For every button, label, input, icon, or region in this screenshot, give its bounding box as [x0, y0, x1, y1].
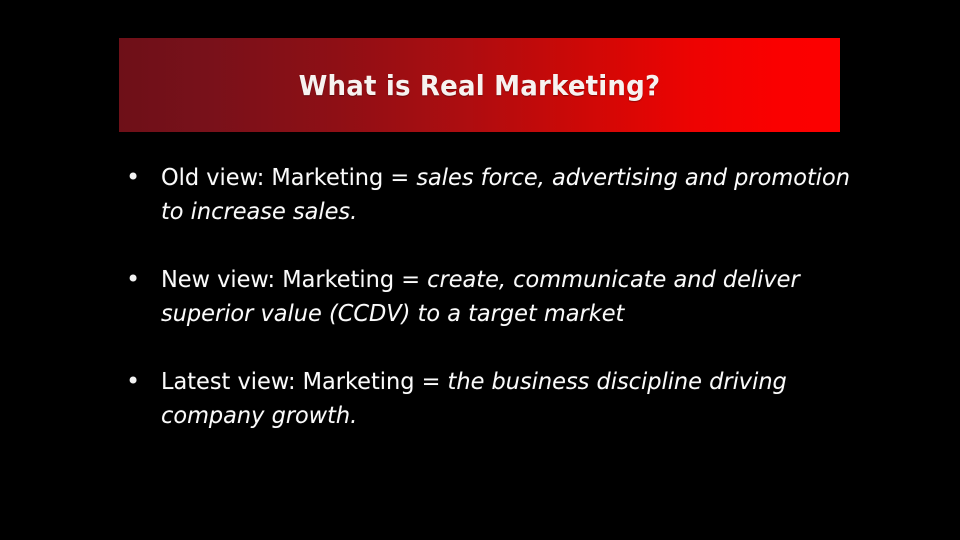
bullet-glyph-icon: •: [119, 262, 161, 296]
page-title: What is Real Marketing?: [299, 69, 661, 102]
list-item: • New view: Marketing = create, communic…: [119, 262, 909, 330]
bullet-list: • Old view: Marketing = sales force, adv…: [119, 160, 909, 432]
bullet-glyph-icon: •: [119, 364, 161, 398]
list-item-lead: New view: Marketing =: [161, 265, 427, 293]
list-item-lead: Latest view: Marketing =: [161, 367, 448, 395]
slide-canvas: What is Real Marketing? • Old view: Mark…: [0, 0, 960, 540]
list-item-text: Latest view: Marketing = the business di…: [161, 364, 875, 432]
list-item: • Old view: Marketing = sales force, adv…: [119, 160, 909, 228]
list-item-lead: Old view: Marketing =: [161, 163, 416, 191]
list-item-text: Old view: Marketing = sales force, adver…: [161, 160, 875, 228]
list-item-text: New view: Marketing = create, communicat…: [161, 262, 875, 330]
list-item: • Latest view: Marketing = the business …: [119, 364, 909, 432]
title-banner: What is Real Marketing?: [119, 38, 840, 132]
bullet-glyph-icon: •: [119, 160, 161, 194]
